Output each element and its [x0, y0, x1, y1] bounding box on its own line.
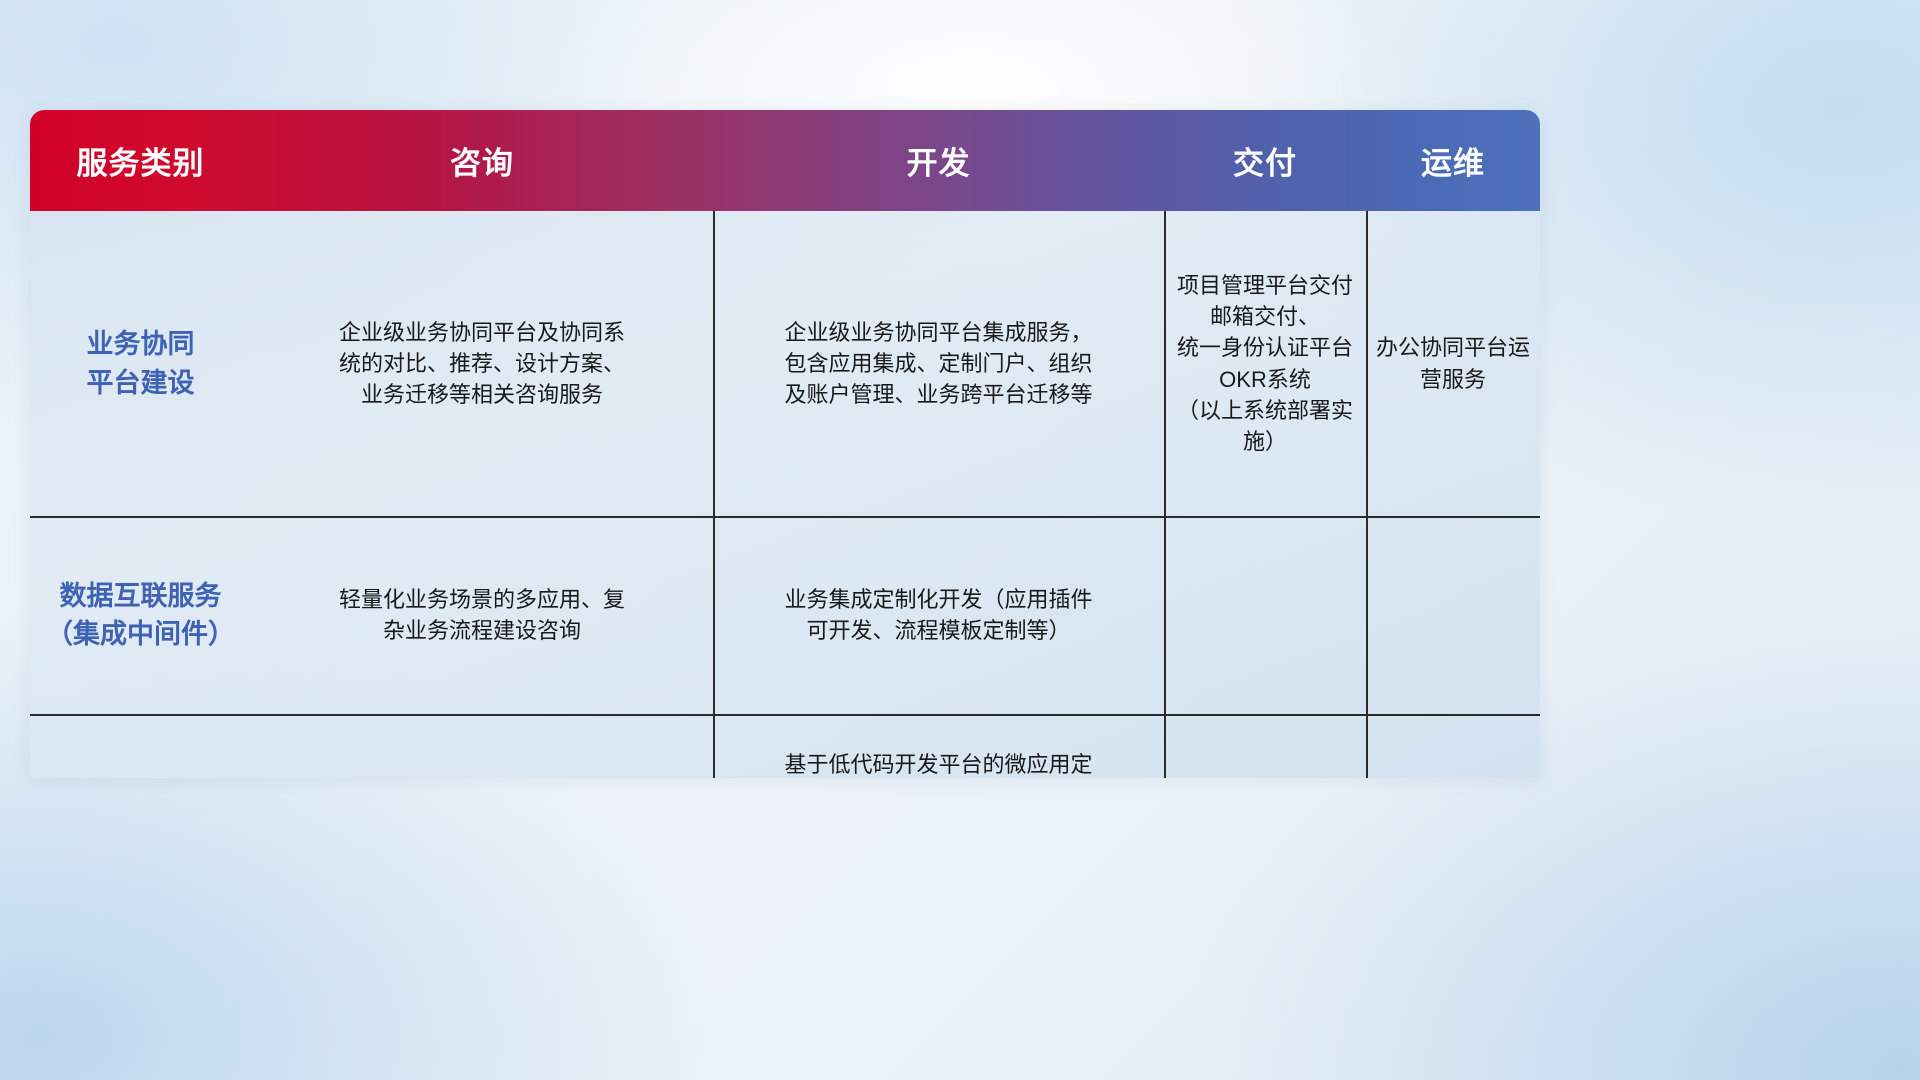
service-matrix-table: 服务类别 咨询 开发 交付 运维 业务协同 平台建设	[30, 110, 1540, 778]
column-header-label: 服务类别	[77, 138, 205, 183]
cell-text: 业务集成定制化开发（应用插件 可开发、流程模板定制等）	[784, 584, 1092, 646]
column-header-service-category: 服务类别	[30, 138, 251, 183]
cell-operations: 办公协同平台运营服务	[1366, 211, 1540, 516]
table-row: 业务协同 平台建设 企业级业务协同平台及协同系 统的对比、推荐、设计方案、 业务…	[30, 211, 1540, 516]
cell-category: 应用定制	[30, 714, 251, 778]
table-row: 数据互联服务 （集成中间件） 轻量化业务场景的多应用、复 杂业务流程建设咨询 业…	[30, 516, 1540, 714]
table-header-row: 服务类别 咨询 开发 交付 运维	[30, 110, 1540, 211]
cell-delivery: 项目管理平台交付 邮箱交付、 统一身份认证平台 OKR系统 （以上系统部署实施）	[1164, 211, 1366, 516]
column-header-label: 咨询	[450, 138, 514, 183]
cell-text: 企业级业务协同平台及协同系 统的对比、推荐、设计方案、 业务迁移等相关咨询服务	[339, 317, 625, 411]
column-header-label: 开发	[907, 138, 971, 183]
cell-text: 数据互联服务 （集成中间件）	[46, 577, 235, 654]
table-body: 业务协同 平台建设 企业级业务协同平台及协同系 统的对比、推荐、设计方案、 业务…	[30, 211, 1540, 778]
column-header-consulting: 咨询	[251, 138, 713, 183]
cell-delivery: 应用分发及管理	[1164, 714, 1366, 778]
cell-development: 企业级业务协同平台集成服务， 包含应用集成、定制门户、组织 及账户管理、业务跨平…	[713, 211, 1164, 516]
cell-text: 业务协同 平台建设	[87, 325, 195, 402]
cell-category: 数据互联服务 （集成中间件）	[30, 516, 251, 714]
cell-text: 企业级业务协同平台集成服务， 包含应用集成、定制门户、组织 及账户管理、业务跨平…	[784, 317, 1092, 411]
table-row: 应用定制 低代码平台推荐及咨询 基于低代码开发平台的微应用定 制开发； 基于通过…	[30, 714, 1540, 778]
column-header-label: 运维	[1421, 138, 1485, 183]
cell-operations	[1366, 516, 1540, 714]
cell-development: 业务集成定制化开发（应用插件 可开发、流程模板定制等）	[713, 516, 1164, 714]
cell-text: 应用定制	[87, 777, 195, 778]
cell-development: 基于低代码开发平台的微应用定 制开发； 基于通过语言的微应用定制开发	[713, 714, 1164, 778]
cell-text: 轻量化业务场景的多应用、复 杂业务流程建设咨询	[339, 584, 625, 646]
cell-delivery	[1164, 516, 1366, 714]
cell-consulting: 轻量化业务场景的多应用、复 杂业务流程建设咨询	[251, 516, 713, 714]
column-header-operations: 运维	[1366, 138, 1540, 183]
cell-operations	[1366, 714, 1540, 778]
page-root: 服务类别 咨询 开发 交付 运维 业务协同 平台建设	[0, 0, 1920, 1080]
cell-category: 业务协同 平台建设	[30, 211, 251, 516]
column-header-label: 交付	[1233, 138, 1297, 183]
cell-text: 基于低代码开发平台的微应用定 制开发； 基于通过语言的微应用定制开发	[784, 749, 1092, 778]
cell-text: 项目管理平台交付 邮箱交付、 统一身份认证平台 OKR系统 （以上系统部署实施）	[1174, 270, 1356, 457]
cell-consulting: 低代码平台推荐及咨询	[251, 714, 713, 778]
cell-text: 办公协同平台运营服务	[1376, 332, 1530, 394]
column-header-delivery: 交付	[1164, 138, 1366, 183]
cell-consulting: 企业级业务协同平台及协同系 统的对比、推荐、设计方案、 业务迁移等相关咨询服务	[251, 211, 713, 516]
column-header-development: 开发	[713, 138, 1164, 183]
